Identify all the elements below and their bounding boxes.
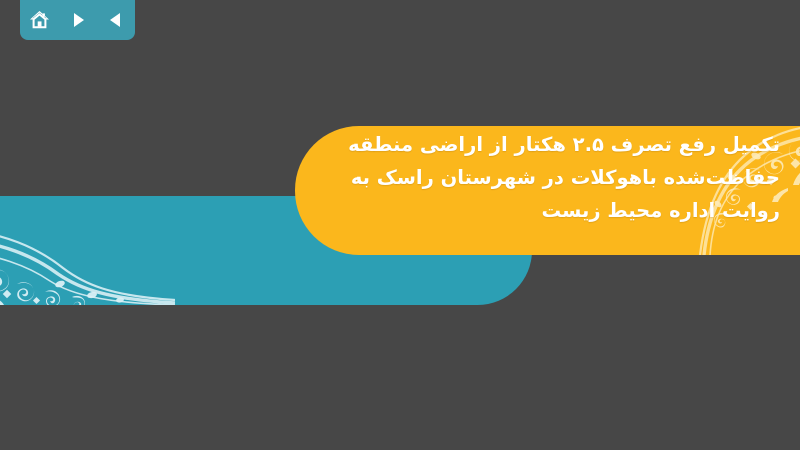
forward-button[interactable] bbox=[65, 7, 91, 33]
triangle-right-icon bbox=[69, 11, 87, 29]
player-navigation-bar bbox=[20, 0, 135, 40]
headline-line-1: تکمیل رفع تصرف ۲.۵ هکتار از اراضی منطقه bbox=[48, 128, 780, 161]
headline-line-3: روایت اداره محیط زیست bbox=[48, 194, 780, 227]
home-icon bbox=[29, 10, 50, 30]
slide-headline: تکمیل رفع تصرف ۲.۵ هکتار از اراضی منطقه … bbox=[48, 128, 780, 227]
triangle-left-icon bbox=[107, 11, 125, 29]
headline-line-2: حفاظت‌شده باهوکلات در شهرستان راسک به bbox=[48, 161, 780, 194]
slide-canvas: تکمیل رفع تصرف ۲.۵ هکتار از اراضی منطقه … bbox=[0, 0, 800, 450]
home-button[interactable] bbox=[26, 7, 52, 33]
back-button[interactable] bbox=[103, 7, 129, 33]
